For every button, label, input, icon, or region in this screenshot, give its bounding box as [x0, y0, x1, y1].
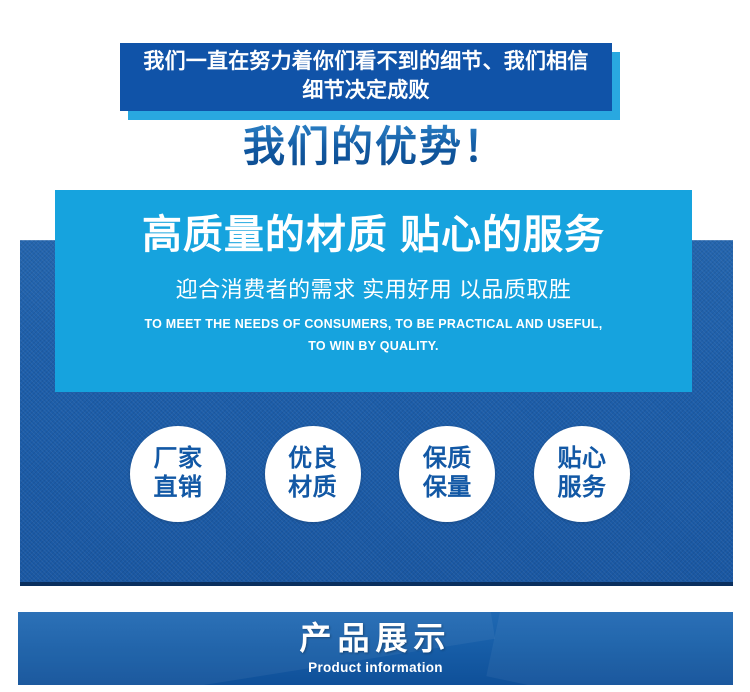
feature-circle-row: 厂家 直销 优良 材质 保质 保量 贴心 服务 — [130, 425, 630, 522]
circle-label-line1: 优良 — [288, 445, 337, 473]
top-headline-text: 我们一直在努力着你们看不到的细节、我们相信 细节决定成败 — [133, 48, 598, 106]
feature-circle-attentive-service: 贴心 服务 — [534, 426, 630, 522]
top-headline-box: 我们一直在努力着你们看不到的细节、我们相信 细节决定成败 — [120, 43, 612, 111]
top-headline-banner: 我们一直在努力着你们看不到的细节、我们相信 细节决定成败 — [120, 43, 612, 111]
page-title: 我们的优势！ — [0, 124, 750, 170]
feature-subheadline: 迎合消费者的需求 实用好用 以品质取胜 — [176, 272, 572, 304]
product-section-title: 产品展示 — [299, 622, 451, 656]
feature-english-caption: TO MEET THE NEEDS OF CONSUMERS, TO BE PR… — [144, 314, 602, 358]
banner-content: 产品展示 Product information — [18, 612, 733, 685]
product-section-banner: 产品展示 Product information — [18, 612, 733, 685]
product-section-subtitle: Product information — [308, 660, 443, 675]
circle-label-line1: 厂家 — [154, 445, 203, 473]
circle-label-line2: 材质 — [288, 474, 337, 502]
circle-label-line2: 直销 — [154, 474, 203, 502]
circle-label-line1: 保质 — [423, 445, 472, 473]
feature-circle-quality-material: 优良 材质 — [265, 426, 361, 522]
circle-label-line2: 服务 — [557, 474, 606, 502]
feature-headline: 高质量的材质 贴心的服务 — [142, 212, 605, 258]
feature-highlight-box: 高质量的材质 贴心的服务 迎合消费者的需求 实用好用 以品质取胜 TO MEET… — [55, 190, 692, 392]
feature-circle-factory-direct: 厂家 直销 — [130, 426, 226, 522]
circle-label-line2: 保量 — [423, 474, 472, 502]
promo-banner-page: 我们一直在努力着你们看不到的细节、我们相信 细节决定成败 我们的优势！ 高质量的… — [0, 0, 750, 692]
feature-circle-guaranteed-quantity: 保质 保量 — [399, 426, 495, 522]
circle-label-line1: 贴心 — [557, 445, 606, 473]
